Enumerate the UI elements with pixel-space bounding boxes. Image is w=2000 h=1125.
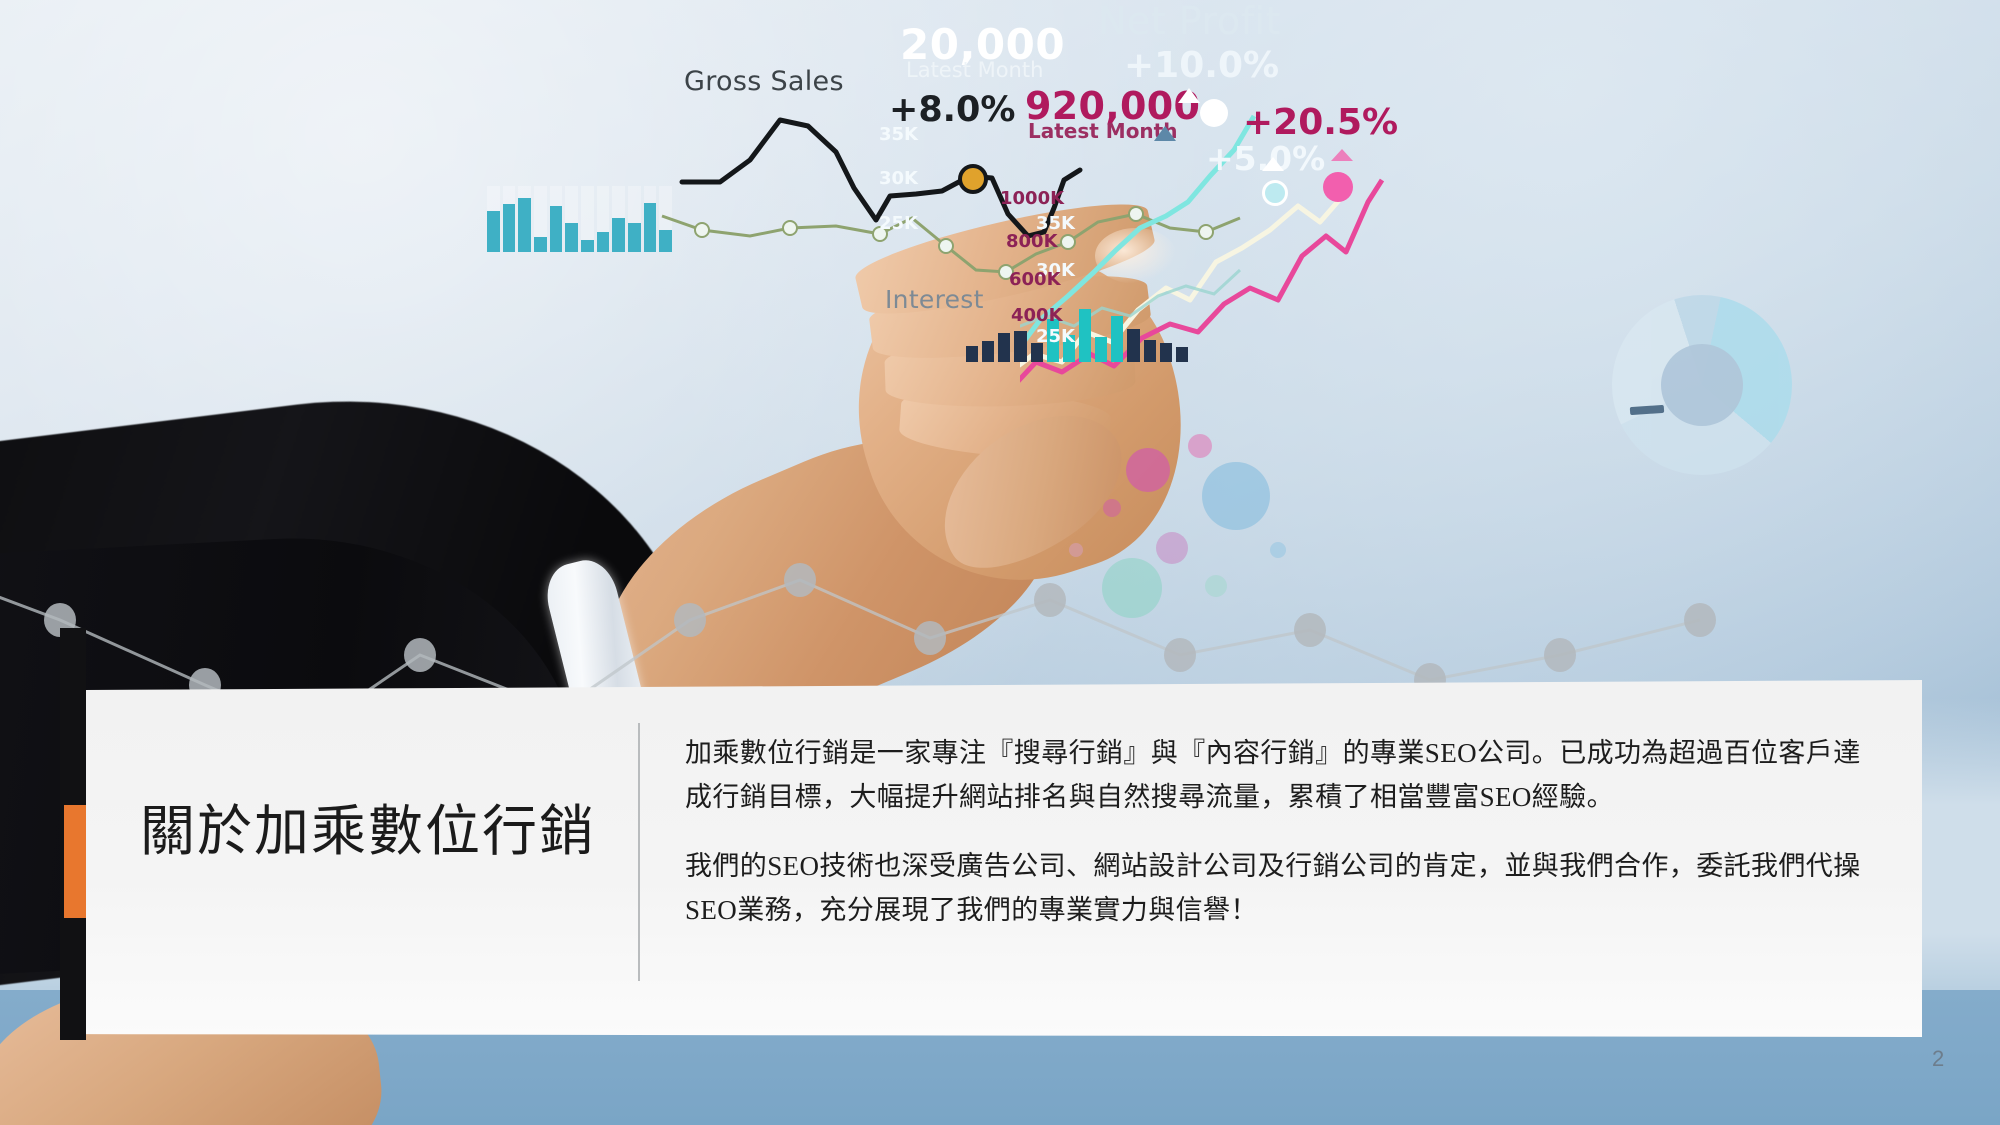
trend-up-triangle-icon <box>1262 157 1284 171</box>
body-paragraph-1: 加乘數位行銷是一家專注『搜尋行銷』與『內容行銷』的專業SEO公司。已成功為超過百… <box>685 732 1875 819</box>
body-paragraph-2: 我們的SEO技術也深受廣告公司、網站設計公司及行銷公司的肯定，並與我們合作，委託… <box>685 845 1875 932</box>
data-point-marker-pink <box>1323 172 1353 202</box>
axis-tick-gross-25k: 25K <box>879 213 918 234</box>
axis-tick-gross-30k: 30K <box>879 168 918 189</box>
page-number: 2 <box>1932 1046 1944 1072</box>
net-profit-bar-chart <box>966 300 1188 362</box>
page-title: 關於加乘數位行銷 <box>140 800 630 863</box>
metric-gross-sales-caption: Latest Month <box>906 58 1043 82</box>
gross-sales-label: Gross Sales <box>684 66 844 97</box>
data-point-marker-cyan <box>1262 180 1288 206</box>
metric-net-profit-change: +10.0% <box>1124 48 1279 84</box>
axis-tick-profit-1000k: 1000K <box>1000 188 1064 209</box>
data-point-marker-white <box>1200 99 1228 127</box>
bubble-cluster <box>1040 400 1460 700</box>
metric-secondary-change: +20.5% <box>1243 105 1398 141</box>
trend-up-triangle-icon <box>1154 126 1176 141</box>
interest-label: Interest <box>885 285 984 314</box>
metric-gross-sales-change: +8.0% <box>889 93 1015 128</box>
title-accent-bar <box>64 805 86 918</box>
data-point-marker-orange <box>958 164 988 194</box>
trend-up-triangle-icon <box>1178 88 1200 103</box>
axis-tick-gross-35k: 35K <box>879 124 918 145</box>
share-donut-chart <box>1612 295 1792 475</box>
axis-tick-profit-800k: 800K <box>1006 231 1058 252</box>
slide: Gross Sales Interest Net Profit 20,000 L… <box>0 0 2000 1125</box>
trend-up-triangle-icon <box>1331 149 1353 161</box>
axis-tick-profit-600k: 600K <box>1009 269 1061 290</box>
body-text: 加乘數位行銷是一家專注『搜尋行銷』與『內容行銷』的專業SEO公司。已成功為超過百… <box>685 732 1875 933</box>
net-profit-label: Net Profit <box>1098 2 1281 40</box>
axis-tick-interest-25k: 25K <box>1036 326 1075 347</box>
title-body-divider <box>638 723 640 981</box>
axis-tick-profit-400k: 400K <box>1011 305 1063 326</box>
